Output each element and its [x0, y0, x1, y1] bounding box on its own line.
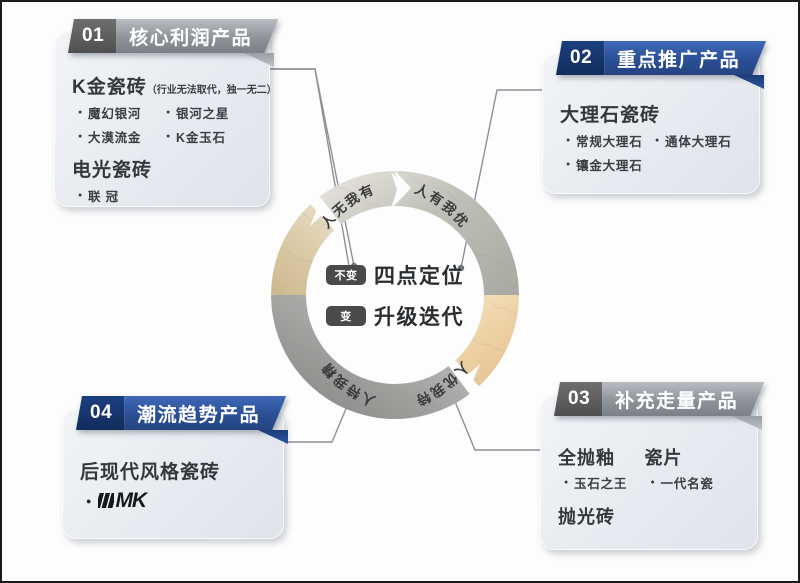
center-row-fixed: 不变 四点定位 [326, 260, 464, 290]
diagram-canvas: 人无我有 人有我优 人优我特 人特我精 不变 四点定位 变 升级迭代 [0, 0, 800, 583]
card-02-body: 大理石瓷砖 常规大理石 通体大理石 镶金大理石 [542, 84, 760, 190]
card-03-col-left: 全抛釉 玉石之王 [558, 433, 644, 498]
card-04-group-title-1: 后现代风格瓷砖 [80, 461, 268, 485]
card-01-title: 核心利润产品 [116, 19, 278, 53]
card-01-body: K金瓷砖（行业无法取代，独一无二） 魔幻银河 银河之星 大漠流金 K金玉石 电光… [54, 62, 270, 222]
card-01-core-profit[interactable]: 01 核心利润产品 K金瓷砖（行业无法取代，独一无二） 魔幻银河 银河之星 大漠… [54, 32, 270, 207]
list-item: 魔幻银河 [78, 103, 166, 127]
card-03-group-1-items: 玉石之王 [564, 473, 644, 497]
list-item: 联 冠 [78, 186, 254, 210]
card-03-number: 03 [554, 382, 602, 416]
card-02-title: 重点推广产品 [604, 41, 766, 75]
card-02-group-title-1: 大理石瓷砖 [560, 104, 744, 128]
chip-bian: 变 [326, 306, 366, 326]
card-03-banner: 03 补充走量产品 [554, 382, 764, 416]
card-04-banner: 04 潮流趋势产品 [76, 396, 286, 430]
card-03-group-title-1: 全抛釉 [558, 447, 644, 470]
card-02-number: 02 [556, 41, 604, 75]
card-03-col-right: 瓷片 一代名瓷 [644, 433, 742, 498]
card-02-group-1-items: 常规大理石 通体大理石 镶金大理石 [566, 131, 744, 179]
ring-center-text: 不变 四点定位 变 升级迭代 [270, 170, 520, 420]
logo-slash-icon [98, 493, 114, 508]
mk-brand-logo: MK [98, 489, 146, 513]
card-01-number: 01 [68, 19, 116, 53]
list-item: 银河之星 [166, 103, 254, 127]
card-01-group-1-items: 魔幻银河 银河之星 大漠流金 K金玉石 [78, 103, 254, 151]
center-text-positioning: 四点定位 [374, 260, 464, 290]
card-03-title: 补充走量产品 [602, 382, 764, 416]
list-item: 镶金大理石 [566, 155, 655, 179]
card-04-title: 潮流趋势产品 [124, 396, 286, 430]
card-02-banner: 02 重点推广产品 [556, 41, 766, 75]
card-03-columns: 全抛釉 玉石之王 瓷片 一代名瓷 [558, 433, 742, 498]
center-text-upgrade: 升级迭代 [374, 301, 464, 331]
card-03-group-title-2: 瓷片 [644, 447, 742, 470]
card-01-banner: 01 核心利润产品 [68, 19, 278, 53]
list-item: 玉石之王 [564, 473, 644, 497]
card-01-group-title-2: 电光瓷砖 [72, 159, 254, 183]
card-04-number: 04 [76, 396, 124, 430]
card-02-key-promotion[interactable]: 02 重点推广产品 大理石瓷砖 常规大理石 通体大理石 镶金大理石 [542, 54, 760, 194]
card-03-group-title-3: 抛光砖 [558, 506, 742, 529]
card-03-body: 全抛釉 玉石之王 瓷片 一代名瓷 抛光砖 [540, 425, 758, 542]
card-04-body: 后现代风格瓷砖 ● MK [62, 439, 284, 523]
chip-buxian: 不变 [326, 265, 366, 285]
list-item: K金玉石 [166, 127, 254, 151]
card-03-volume-supplement[interactable]: 03 补充走量产品 全抛釉 玉石之王 瓷片 一代名瓷 [540, 395, 758, 550]
card-04-trend-products[interactable]: 04 潮流趋势产品 后现代风格瓷砖 ● MK [62, 409, 284, 539]
list-item: 常规大理石 [566, 131, 655, 155]
card-04-brand-text: MK [115, 489, 146, 513]
four-point-ring: 人无我有 人有我优 人优我特 人特我精 不变 四点定位 变 升级迭代 [270, 170, 520, 420]
list-item: 大漠流金 [78, 127, 166, 151]
center-row-change: 变 升级迭代 [326, 301, 464, 331]
card-04-brand-item: ● MK [86, 489, 268, 513]
card-03-group-2-items: 一代名瓷 [650, 473, 742, 497]
card-01-group-2-items: 联 冠 [78, 186, 254, 210]
card-01-group-title-1: K金瓷砖（行业无法取代，独一无二） [72, 76, 254, 100]
bullet-dot-icon: ● [86, 496, 91, 506]
list-item: 一代名瓷 [650, 473, 742, 497]
list-item: 通体大理石 [655, 131, 744, 155]
